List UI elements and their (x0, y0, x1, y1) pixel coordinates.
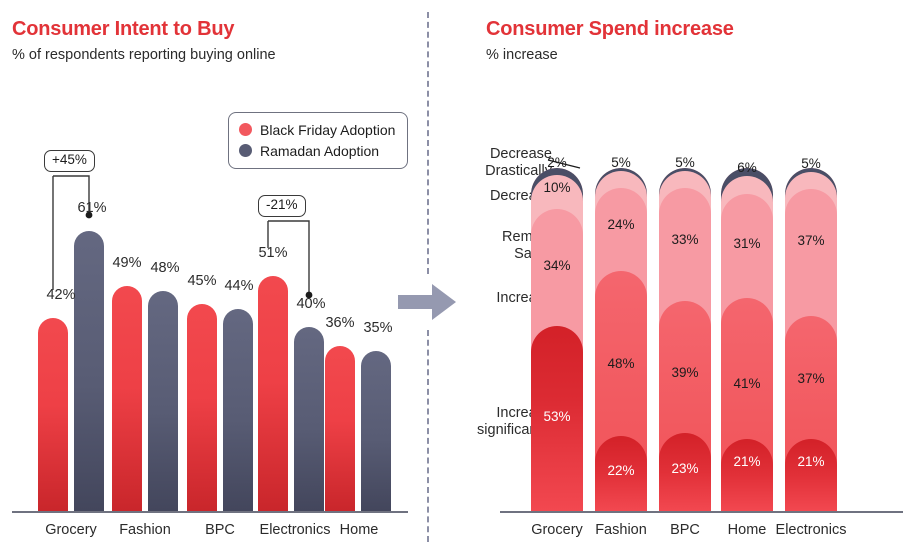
stack-bpc[interactable] (659, 168, 711, 511)
segment-value-bpc-increase-significantly: 23% (659, 461, 711, 476)
segment-value-fashion-remain-same: 24% (595, 217, 647, 232)
segment-value-home-decrease: 6% (721, 160, 773, 175)
annotation-badge-grocery: +45% (44, 150, 95, 172)
segment-value-electronics-remain-same: 37% (785, 233, 837, 248)
bar-value-bpc-ramadan: 44% (216, 278, 262, 294)
legend: Black Friday Adoption Ramadan Adoption (228, 112, 408, 169)
segment-value-home-increase: 41% (721, 376, 773, 391)
segment-value-grocery-increase-significantly: 53% (531, 409, 583, 424)
right-axis-line (500, 511, 903, 513)
segment-value-grocery-decrease-drastically: 2% (531, 155, 583, 170)
segment-value-grocery-decrease: 10% (531, 180, 583, 195)
segment-value-bpc-remain-same: 33% (659, 232, 711, 247)
bar-value-electronics-ramadan: 40% (288, 296, 334, 312)
right-chart-title: Consumer Spend increase (486, 18, 734, 41)
legend-label: Black Friday Adoption (260, 122, 395, 138)
segment-value-home-remain-same: 31% (721, 236, 773, 251)
segment-value-grocery-remain-same: 34% (531, 258, 583, 273)
x-label-home: Home (322, 522, 396, 538)
stack-grocery[interactable] (531, 168, 583, 511)
bar-electronics-ramadan[interactable] (294, 327, 324, 511)
annotation-badge-electronics: -21% (258, 195, 306, 217)
legend-item-ramadan[interactable]: Ramadan Adoption (239, 140, 395, 161)
bar-grocery-black-friday[interactable] (38, 318, 68, 511)
left-chart-subtitle: % of respondents reporting buying online (12, 47, 276, 63)
segment-home-increase-significantly[interactable] (721, 439, 773, 511)
bar-home-black-friday[interactable] (325, 346, 355, 511)
bar-fashion-black-friday[interactable] (112, 286, 142, 511)
x-label-grocery: Grocery (34, 522, 108, 538)
x-label-fashion-right: Fashion (585, 522, 657, 538)
bar-bpc-black-friday[interactable] (187, 304, 217, 511)
bar-value-electronics-black-friday: 51% (250, 245, 296, 261)
left-chart-title: Consumer Intent to Buy (12, 18, 234, 41)
segment-value-bpc-decrease: 5% (659, 155, 711, 170)
segment-value-fashion-decrease: 5% (595, 155, 647, 170)
bar-electronics-black-friday[interactable] (258, 276, 288, 511)
panel-divider-bottom (427, 330, 429, 542)
bar-value-grocery-ramadan: 61% (69, 200, 115, 216)
x-label-fashion: Fashion (108, 522, 182, 538)
infographic-root: Consumer Intent to Buy % of respondents … (0, 0, 903, 552)
legend-swatch-icon (239, 144, 252, 157)
bar-home-ramadan[interactable] (361, 351, 391, 511)
segment-value-bpc-increase: 39% (659, 365, 711, 380)
bar-value-grocery-black-friday: 42% (38, 287, 84, 303)
segment-value-home-increase-significantly: 21% (721, 454, 773, 469)
legend-item-black-friday[interactable]: Black Friday Adoption (239, 119, 395, 140)
left-axis-line (12, 511, 408, 513)
segment-value-fashion-increase: 48% (595, 356, 647, 371)
segment-value-electronics-decrease: 5% (785, 156, 837, 171)
right-chart-subtitle: % increase (486, 47, 558, 63)
bar-bpc-ramadan[interactable] (223, 309, 253, 511)
legend-swatch-icon (239, 123, 252, 136)
segment-value-electronics-increase: 37% (785, 371, 837, 386)
right-chart-panel: Consumer Spend increase % increase Decre… (430, 0, 903, 552)
x-label-grocery-right: Grocery (521, 522, 593, 538)
bar-value-home-ramadan: 35% (355, 320, 401, 336)
left-chart-panel: Consumer Intent to Buy % of respondents … (0, 0, 420, 552)
panel-divider-top (427, 12, 429, 274)
segment-value-fashion-increase-significantly: 22% (595, 463, 647, 478)
legend-label: Ramadan Adoption (260, 143, 379, 159)
bar-fashion-ramadan[interactable] (148, 291, 178, 511)
segment-value-electronics-increase-significantly: 21% (785, 454, 837, 469)
x-label-electronics-right: Electronics (761, 522, 861, 538)
segment-electronics-increase-significantly[interactable] (785, 439, 837, 511)
bar-grocery-ramadan[interactable] (74, 231, 104, 511)
